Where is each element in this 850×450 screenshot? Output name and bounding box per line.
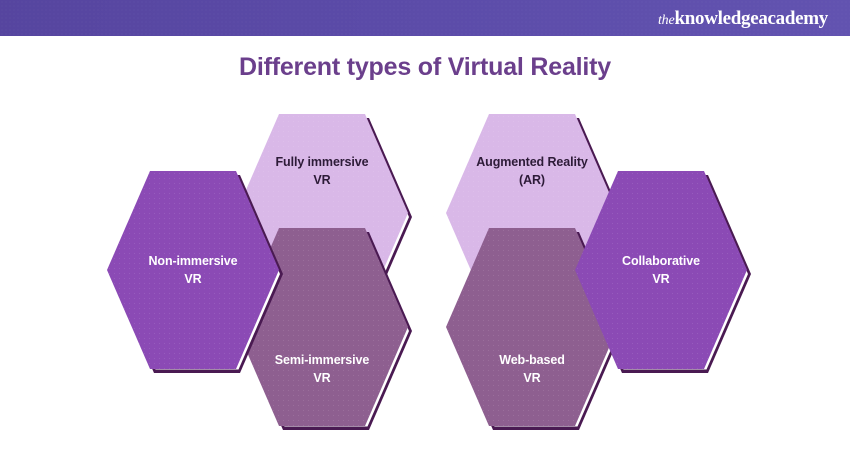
hexagon-label: Web-based VR [491, 351, 573, 387]
brand-prefix-text: the [658, 13, 675, 28]
hexagon-non-immersive-vr[interactable]: Non-immersive VR [107, 171, 279, 369]
hexagon-label: Semi-immersive VR [267, 351, 378, 387]
hexagon-label: Collaborative VR [614, 252, 708, 288]
brand-logo: theknowledgeacademy [658, 9, 828, 28]
hexagon-label: Fully immersive VR [268, 153, 377, 189]
hexagon-diagram: Fully immersive VR Semi-immersive VR Non… [0, 0, 850, 450]
hexagon-label: Non-immersive VR [140, 252, 245, 288]
hexagon-collaborative-vr[interactable]: Collaborative VR [575, 171, 747, 369]
brand-name-text: knowledgeacademy [674, 8, 828, 29]
